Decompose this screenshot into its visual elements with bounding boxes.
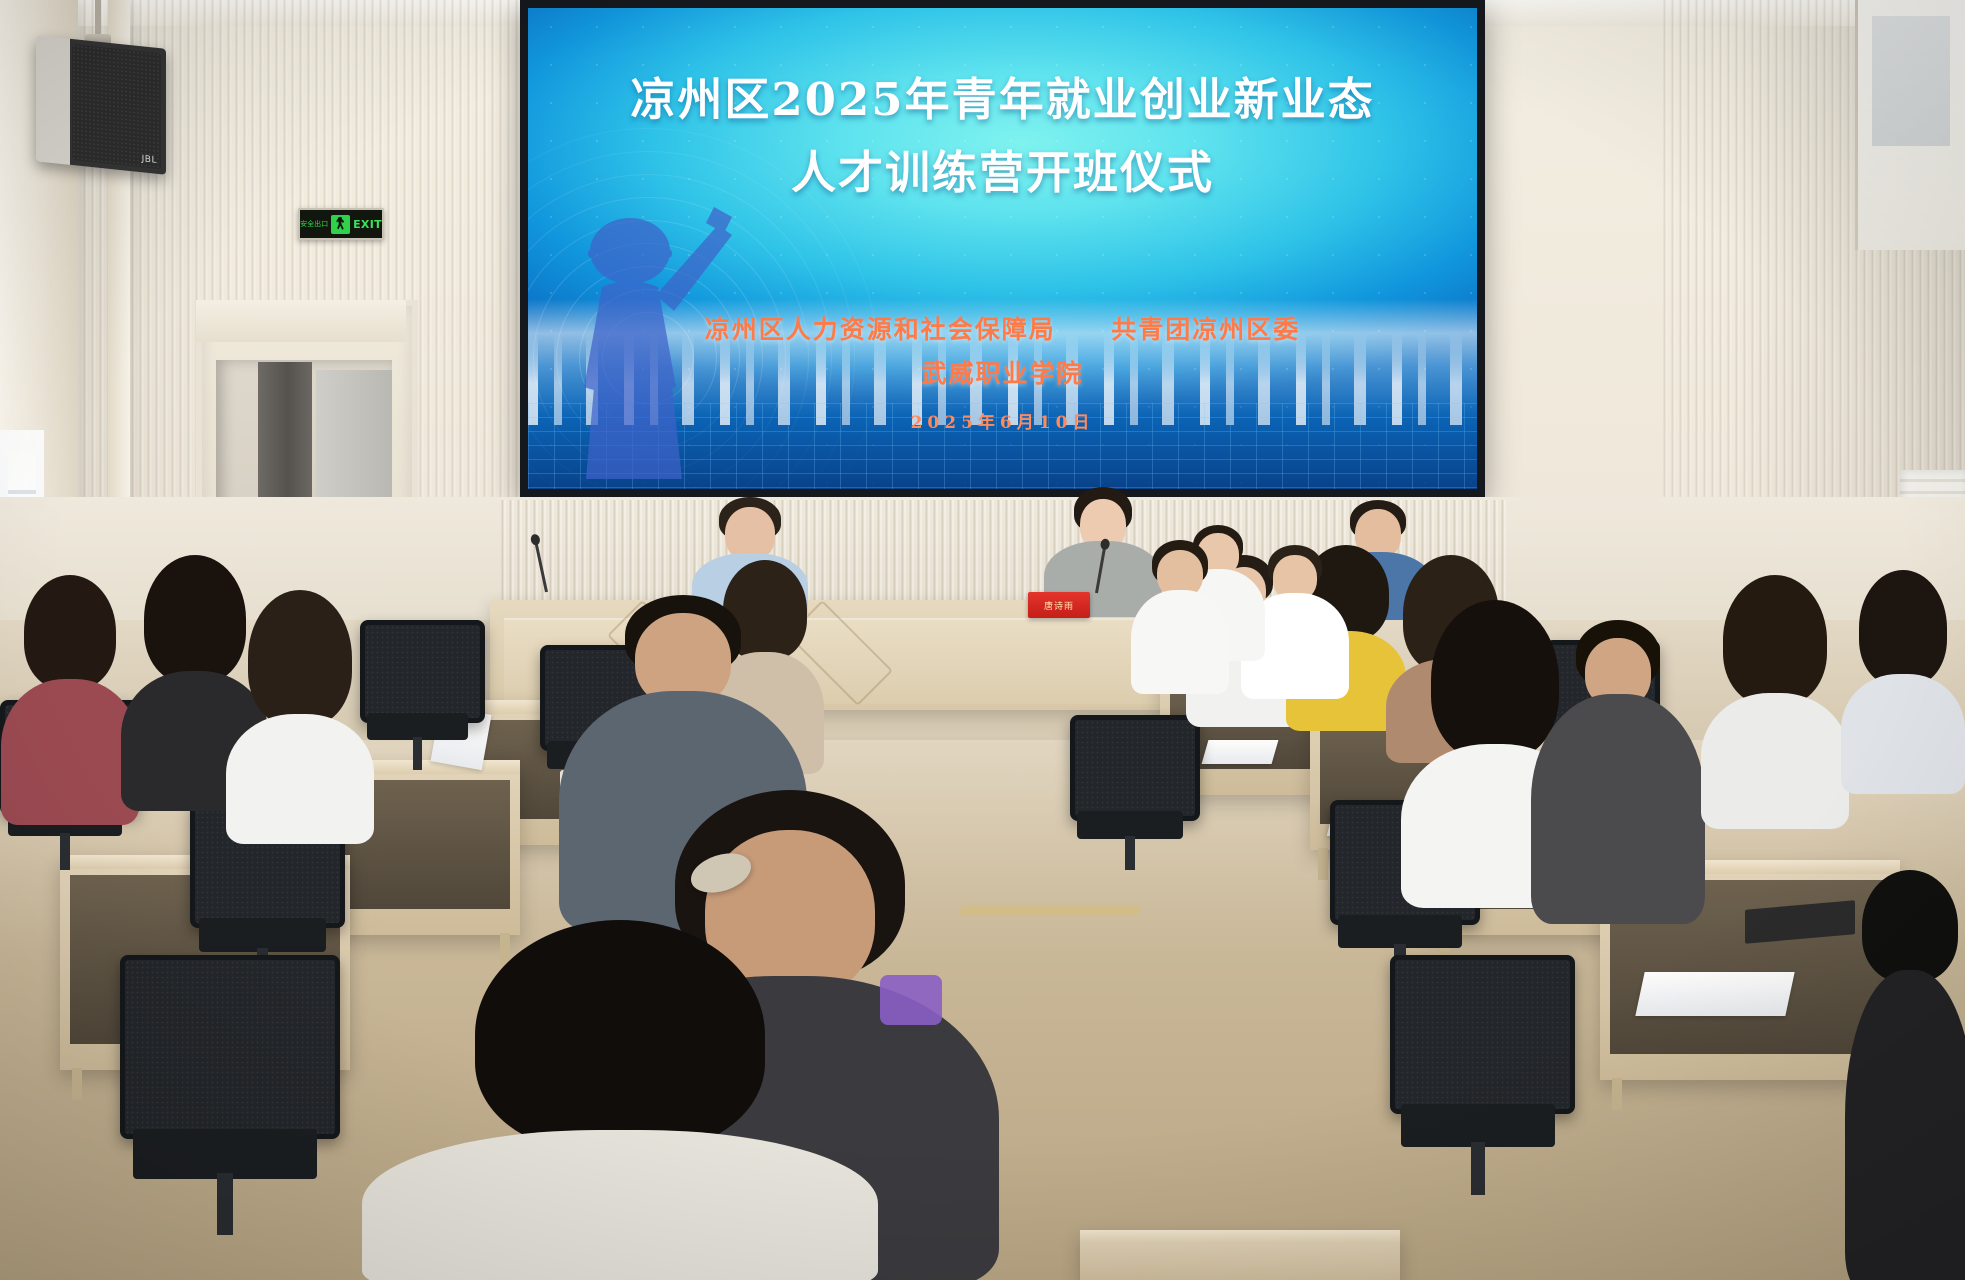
running-person-icon [331, 215, 350, 234]
attendee [1845, 870, 1965, 1280]
right-window [1855, 0, 1965, 250]
chair[interactable] [360, 620, 475, 770]
speaker-grille-icon [72, 44, 161, 169]
screen-title-line2: 人才训练营开班仪式 [528, 137, 1477, 210]
attendee [1840, 570, 1965, 790]
speaker-mount-bracket [95, 0, 101, 44]
screen-title: 凉州区2025年青年就业创业新业态 人才训练营开班仪式 [528, 64, 1477, 210]
screen-organizers: 凉州区人力资源和社会保障局 共青团凉州区委 武威职业学院 [528, 308, 1477, 396]
screen-title-line1: 凉州区2025年青年就业创业新业态 [528, 64, 1477, 137]
backpack-strap [880, 975, 942, 1025]
organizer-vocational-college: 武威职业学院 [528, 352, 1477, 396]
organizer-human-resources-bureau: 凉州区人力资源和社会保障局 [705, 315, 1056, 344]
screenshot-root: JBL 安全出口 EXIT [0, 0, 1965, 1280]
led-screen: 凉州区2025年青年就业创业新业态 人才训练营开班仪式 凉州区人力资源和社会保障… [528, 8, 1477, 489]
door-lintel [196, 300, 406, 342]
attendee [225, 590, 375, 840]
paper-sheet [1635, 972, 1794, 1016]
exit-sign-chinese-label: 安全出口 [300, 221, 328, 228]
emergency-exit-sign: 安全出口 EXIT [298, 208, 384, 240]
ceiling-speaker: JBL [36, 35, 166, 175]
attendee [1700, 575, 1850, 825]
screen-organizer-row1: 凉州区人力资源和社会保障局 共青团凉州区委 [528, 308, 1477, 352]
speaker-nameplate: 唐诗雨 [1028, 592, 1090, 618]
attendee-foreground-center [360, 920, 880, 1280]
nameplate-text: 唐诗雨 [1044, 599, 1074, 612]
chair[interactable] [1070, 715, 1190, 870]
attendee [0, 575, 140, 815]
attendee [1530, 620, 1705, 920]
attendee [1130, 540, 1230, 690]
led-screen-bezel: 凉州区2025年青年就业创业新业态 人才训练营开班仪式 凉州区人力资源和社会保障… [520, 0, 1485, 497]
paper-sheet [1202, 740, 1279, 764]
desk [1080, 1230, 1400, 1280]
chair[interactable] [120, 955, 330, 1235]
screen-date: 2025年6月10日 [528, 408, 1477, 433]
exit-sign-english-label: EXIT [353, 219, 382, 230]
organizer-youth-league: 共青团凉州区委 [1111, 315, 1300, 344]
speaker-brand-label: JBL [142, 154, 157, 166]
chair[interactable] [1390, 955, 1565, 1195]
